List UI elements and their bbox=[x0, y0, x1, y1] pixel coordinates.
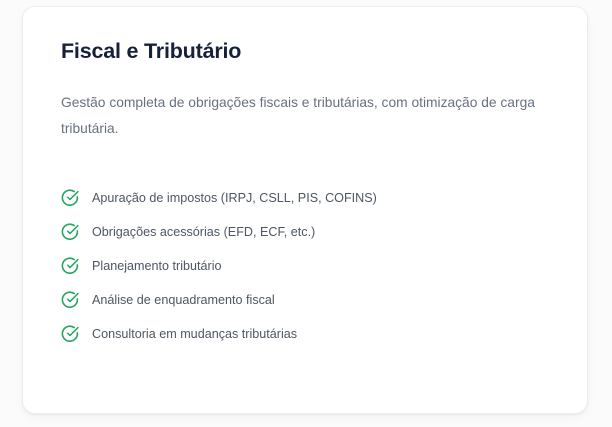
list-item: Apuração de impostos (IRPJ, CSLL, PIS, C… bbox=[61, 185, 567, 211]
check-circle-icon bbox=[61, 291, 79, 309]
list-item: Análise de enquadramento fiscal bbox=[61, 287, 567, 313]
list-item: Planejamento tributário bbox=[61, 253, 567, 279]
service-card: Fiscal e Tributário Gestão completa de o… bbox=[22, 6, 588, 414]
list-item-label: Apuração de impostos (IRPJ, CSLL, PIS, C… bbox=[92, 189, 377, 207]
card-description: Gestão completa de obrigações fiscais e … bbox=[61, 65, 566, 142]
check-circle-icon bbox=[61, 257, 79, 275]
check-circle-icon bbox=[61, 223, 79, 241]
page-root: Fiscal e Tributário Gestão completa de o… bbox=[0, 0, 612, 427]
page-title: Fiscal e Tributário bbox=[61, 37, 567, 65]
card-content: Fiscal e Tributário Gestão completa de o… bbox=[43, 7, 567, 347]
list-item-label: Análise de enquadramento fiscal bbox=[92, 291, 275, 309]
list-item: Obrigações acessórias (EFD, ECF, etc.) bbox=[61, 219, 567, 245]
list-item-label: Obrigações acessórias (EFD, ECF, etc.) bbox=[92, 223, 315, 241]
list-item-label: Consultoria em mudanças tributárias bbox=[92, 325, 297, 343]
list-item: Consultoria em mudanças tributárias bbox=[61, 321, 567, 347]
feature-list: Apuração de impostos (IRPJ, CSLL, PIS, C… bbox=[61, 142, 567, 347]
check-circle-icon bbox=[61, 325, 79, 343]
check-circle-icon bbox=[61, 189, 79, 207]
list-item-label: Planejamento tributário bbox=[92, 257, 222, 275]
